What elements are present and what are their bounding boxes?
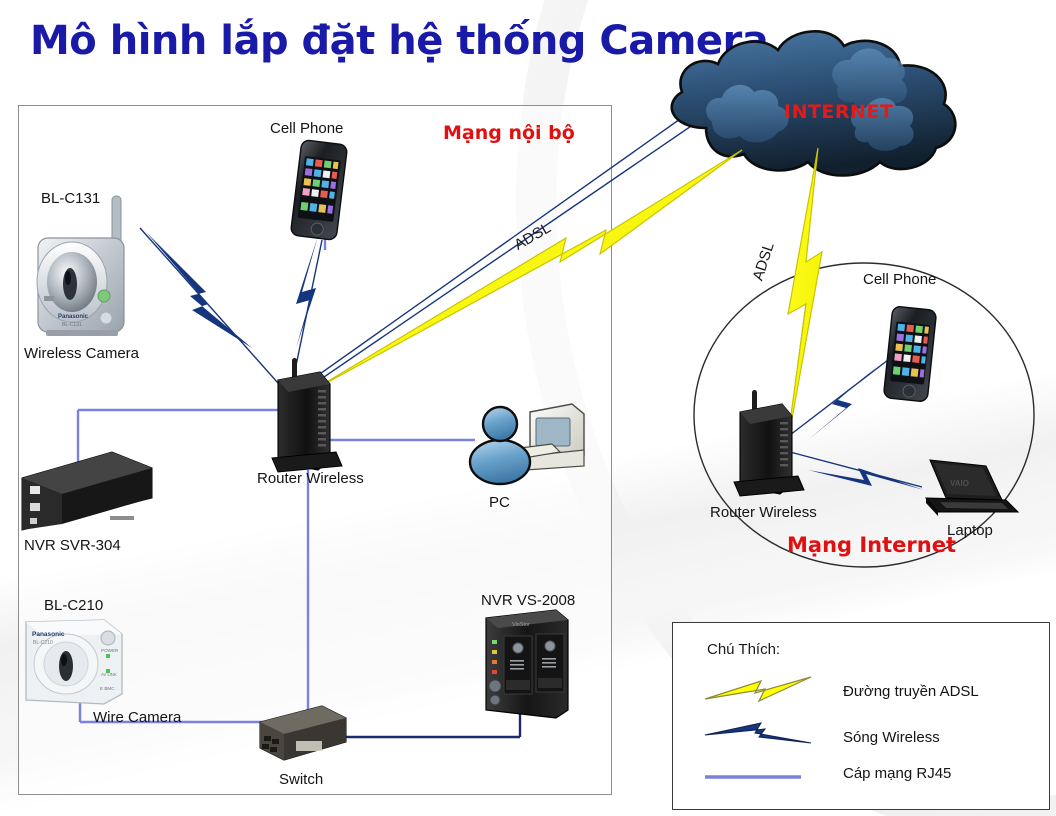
lan-dark-cables [338, 700, 520, 737]
diagram-canvas: Mô hình lắp đặt hệ thống Camera [0, 0, 1056, 816]
label-pc: PC [489, 494, 510, 511]
legend-row-wireless: Sóng Wireless [673, 727, 1049, 761]
adsl-bolt-icon [703, 675, 823, 711]
legend-box: Chú Thích: Đường truyền ADSL Sóng Wirele… [672, 622, 1050, 810]
label-nvr-vs2008: NVR VS-2008 [481, 592, 575, 609]
wan-zone-label: Mạng Internet [787, 533, 956, 557]
legend-row-rj45: Cáp mạng RJ45 [673, 763, 1049, 797]
guide-wanrouter-phone [790, 360, 888, 435]
wireless-bolts-wan [808, 364, 924, 490]
wireless-guide-lines [140, 112, 700, 392]
label-switch: Switch [279, 771, 323, 788]
bolt-wanrouter-to-phone [808, 364, 880, 440]
adsl-bolt-cloud-to-wan [786, 148, 822, 452]
legend-label-adsl: Đường truyền ADSL [843, 681, 979, 703]
lan-zone-label: Mạng nội bộ [443, 122, 575, 144]
label-cell-phone-lan: Cell Phone [270, 120, 343, 137]
wireless-bolt-icon [703, 721, 823, 757]
label-cell-phone-wan: Cell Phone [863, 271, 936, 288]
rj45-cables [78, 200, 475, 722]
guide-router-cloud [300, 112, 690, 388]
adsl-bolt-lan-to-cloud [310, 150, 742, 392]
label-nvr-svr304: NVR SVR-304 [24, 537, 121, 554]
legend-label-rj45: Cáp mạng RJ45 [843, 763, 951, 785]
label-router-wan: Router Wireless [710, 504, 817, 521]
label-wire-camera: Wire Camera [93, 709, 181, 726]
legend-label-wireless: Sóng Wireless [843, 727, 940, 749]
label-blc131-model: BL-C131 [41, 190, 100, 207]
bolt-phone-to-router [296, 236, 318, 348]
label-router-lan: Router Wireless [257, 470, 364, 487]
label-wireless-camera: Wireless Camera [24, 345, 139, 362]
bolt-camera-to-router [146, 232, 252, 348]
guide-cam-router [140, 228, 286, 392]
label-blc210-model: BL-C210 [44, 597, 103, 614]
bolt-wanrouter-to-laptop [808, 468, 924, 490]
legend-title: Chú Thích: [707, 641, 780, 658]
label-laptop: Laptop [947, 522, 993, 539]
internet-cloud-label: INTERNET [784, 101, 893, 123]
legend-row-adsl: Đường truyền ADSL [673, 681, 1049, 715]
guide-router-cloud-2 [305, 120, 700, 390]
rj45-line-icon [703, 757, 823, 793]
